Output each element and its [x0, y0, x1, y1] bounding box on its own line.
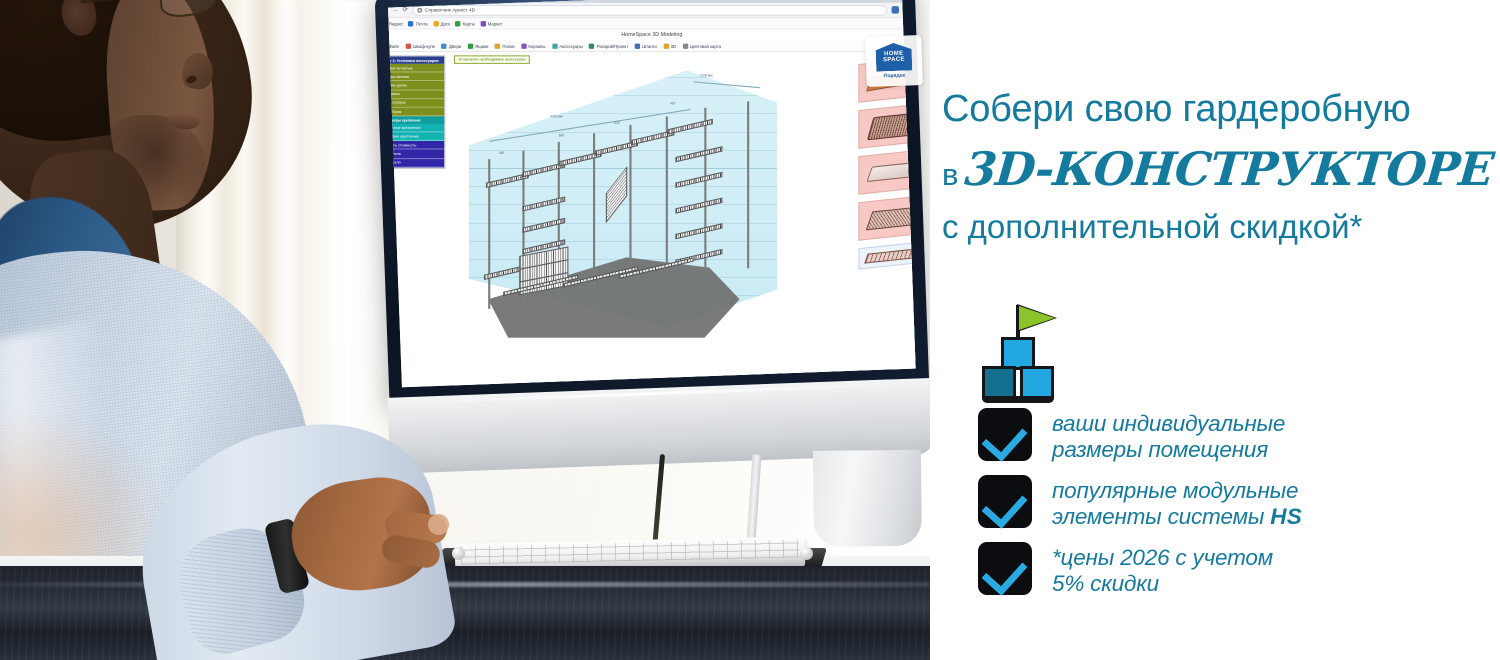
toolbar-icon: [468, 43, 473, 48]
benefit-item: *цены 2026 с учетом 5% скидки: [978, 542, 1478, 597]
bookmark-label: Диск: [441, 21, 450, 26]
sidebar-item-baskets[interactable]: Корзины: [388, 90, 444, 99]
sidebar-item-accessories[interactable]: Аксессуары: [388, 99, 444, 108]
sidebar-group-teal: Примеры крепления Обычное крепление Боко…: [388, 116, 444, 141]
toolbar-item[interactable]: Цветовая карта: [683, 43, 721, 48]
benefit-line-1: ваши индивидуальные: [1052, 411, 1285, 436]
app-title: HomeSpace 3D Modeling: [388, 30, 916, 41]
sidebar-item-mount-normal[interactable]: Обычное крепление: [388, 124, 444, 133]
bookmark-item[interactable]: Почта: [408, 21, 427, 26]
dimension-label: 4200 мм: [550, 114, 562, 118]
toolbar-icon: [589, 43, 594, 48]
benefit-text: популярные модульные элементы системы HS: [1052, 475, 1302, 530]
bookmark-label: Маркет: [488, 21, 502, 26]
sidebar-step-header: Шаг 4: Установка аксессуаров: [388, 56, 444, 63]
toolbar-item[interactable]: Ящики: [468, 43, 489, 48]
app-sidebar: Шаг 4: Установка аксессуаров Полки сетча…: [388, 55, 445, 168]
model-viewport[interactable]: Установите необходимые аксессуары: [447, 52, 915, 387]
check-icon: [978, 475, 1032, 528]
toolbar-label: Раскрой/Проект: [597, 43, 629, 48]
toolbar-label: Полки: [502, 43, 514, 48]
toolbar-item[interactable]: Полки: [495, 43, 515, 48]
sidebar-item-clear[interactable]: Очистить: [388, 150, 444, 159]
cube-right-icon: [1020, 366, 1054, 399]
benefit-line-1: популярные модульные: [1052, 478, 1298, 503]
monitor-stand: [813, 450, 922, 547]
dimension-label: 400: [670, 101, 675, 105]
toolbar-icon: [552, 43, 557, 48]
bookmark-item[interactable]: Яндекс: [388, 21, 403, 26]
post: [666, 116, 668, 272]
monitor-screen: HomeSpace 3D Модели × + — ▢ ✕ ← →: [388, 0, 916, 387]
toolbar-icon: [406, 43, 411, 48]
bookmark-icon: [408, 21, 413, 26]
bookmark-label: Почта: [416, 21, 428, 26]
sidebar-item-shelves-mesh[interactable]: Полки сетчатые: [388, 64, 444, 73]
toolbar-icon: [635, 43, 640, 48]
pants-rack-thumbnail[interactable]: [858, 241, 915, 269]
bookmark-icon: [433, 21, 438, 26]
benefit-item: популярные модульные элементы системы HS: [978, 475, 1478, 530]
brand-logo-badge: HOME SPACE Порядок: [865, 35, 923, 87]
sidebar-group-olive: Полки сетчатые Полки мелкие Полки-доски …: [388, 64, 444, 117]
sidebar-item-shelves-board[interactable]: Полки-доски: [388, 81, 444, 90]
photo-panel: HomeSpace 3D Модели × + — ▢ ✕ ← →: [0, 0, 930, 660]
tray-shallow-thumbnail[interactable]: [858, 149, 915, 194]
bookmark-label: Яндекс: [389, 21, 403, 26]
toolbar-label: Цветовая карта: [690, 43, 721, 48]
benefit-bold-suffix: HS: [1270, 504, 1302, 529]
viewport-hint: Установите необходимые аксессуары: [454, 55, 530, 64]
ext-blue-icon[interactable]: [892, 6, 899, 13]
benefit-item: ваши индивидуальные размеры помещения: [978, 408, 1478, 463]
sidebar-group-blue: Убрать стоимость Очистить В начало: [388, 141, 444, 167]
post: [747, 101, 749, 268]
browser-url-bar: ← → ⟳ Справочник Арнест 4D: [388, 3, 916, 18]
benefit-line-2: размеры помещения: [1052, 437, 1268, 462]
toolbar-label: Ящики: [475, 43, 488, 48]
dimension-label: 1200 мм: [700, 74, 712, 78]
bookmarks-bar: Яндекс Почта Диск Карты: [388, 18, 916, 30]
app-toolbar: Файл Шкаф-купе Двери Ящики Полки Корзины…: [388, 40, 916, 52]
toolbar-label: Корзины: [528, 43, 545, 48]
address-input[interactable]: Справочник Арнест 4D: [412, 5, 887, 16]
toolbar-label: Файл: [389, 43, 400, 48]
message-panel: Собери свою гардеробную в 3D-КОНСТРУКТОР…: [930, 0, 1500, 660]
blocks-base-icon: [982, 396, 1054, 403]
sidebar-item-shelves-small[interactable]: Полки мелкие: [388, 73, 444, 82]
bookmark-item[interactable]: Маркет: [480, 21, 502, 26]
bookmark-item[interactable]: Карты: [455, 21, 475, 26]
home-space-shield-icon: HOME SPACE: [875, 42, 912, 71]
promo-banner: HomeSpace 3D Модели × + — ▢ ✕ ← →: [0, 0, 1500, 660]
sidebar-item-mount-side[interactable]: Боковое крепление: [388, 132, 444, 141]
desk-edge-highlight: [0, 582, 930, 587]
headline-line-1: Собери свою гардеробную: [942, 88, 1490, 131]
toolbar-label: 3D: [671, 43, 676, 48]
bookmark-label: Карты: [463, 21, 475, 26]
toolbar-icon: [521, 43, 526, 48]
brand-tagline: Порядок: [884, 73, 905, 80]
toolbar-item[interactable]: Раскрой/Проект: [589, 43, 628, 48]
post: [629, 125, 631, 280]
pants-rack-shape: [864, 248, 916, 263]
check-icon: [978, 542, 1032, 595]
toolbar-icon: [683, 43, 688, 48]
toolbar-label: Шкаф-купе: [413, 43, 435, 48]
toolbar-icon: [495, 43, 500, 48]
flag-icon: [1019, 306, 1055, 330]
dimension-label: 450: [499, 151, 504, 155]
dimension-label: 600: [559, 133, 564, 137]
headline-line-3: с дополнительной скидкой*: [942, 208, 1490, 246]
mesh-shelf-shape: [866, 206, 916, 230]
toolbar-label: Штанги: [642, 43, 657, 48]
screen-content: HomeSpace 3D Модели × + — ▢ ✕ ← →: [388, 0, 916, 387]
keyboard-knob-right: [800, 547, 813, 560]
lock-icon: [418, 8, 422, 12]
benefit-text: ваши индивидуальные размеры помещения: [1052, 408, 1285, 463]
toolbar-item[interactable]: 3D: [663, 43, 676, 48]
toolbar-label: Аксессуары: [559, 43, 583, 48]
keyboard-keys: [461, 539, 799, 564]
headline-preposition: в: [942, 157, 958, 193]
brand-line-2: SPACE: [883, 57, 905, 64]
url-text: Справочник Арнест 4D: [425, 7, 475, 12]
toolbar-item[interactable]: Штанги: [635, 43, 657, 48]
benefit-text: *цены 2026 с учетом 5% скидки: [1052, 542, 1273, 597]
headline-line-2: в 3D-КОНСТРУКТОРЕ: [942, 142, 1490, 196]
toolbar-label: Двери: [449, 43, 461, 48]
benefit-line-2: элементы системы: [1052, 504, 1270, 529]
sidebar-item-restart[interactable]: В начало: [388, 159, 444, 168]
bookmark-item[interactable]: Диск: [433, 21, 450, 26]
headline-accent: 3D-КОНСТРУКТОРЕ: [963, 142, 1496, 196]
post: [704, 108, 706, 269]
sidebar-item-remove-cost[interactable]: Убрать стоимость: [388, 141, 444, 150]
forward-icon[interactable]: →: [392, 7, 398, 13]
toolbar-item[interactable]: Файл: [388, 43, 399, 48]
monitor: HomeSpace 3D Модели × + — ▢ ✕ ← →: [375, 0, 930, 464]
sidebar-section-mounting: Примеры крепления: [388, 116, 444, 123]
keyboard-knob-left: [452, 547, 465, 560]
bookmark-icon: [455, 21, 460, 26]
toolbar-icon: [441, 43, 446, 48]
toolbar-icon: [663, 43, 668, 48]
bookmark-icon: [480, 21, 485, 26]
benefits-list: ваши индивидуальные размеры помещения по…: [978, 408, 1478, 610]
benefit-line-1: *цены 2026 с учетом: [1052, 545, 1273, 570]
toolbar-item[interactable]: Двери: [441, 43, 461, 48]
room-3d: 1200 мм 4200 мм 600 600 450 400: [456, 65, 777, 333]
toolbar-item[interactable]: Корзины: [521, 43, 545, 48]
toolbar-item[interactable]: Шкаф-купе: [406, 43, 435, 48]
sidebar-item-pants[interactable]: Для брюк: [388, 108, 444, 117]
benefit-line-2: 5% скидки: [1052, 571, 1159, 596]
building-blocks-icon: [978, 302, 1088, 402]
toolbar-item[interactable]: Аксессуары: [552, 43, 583, 48]
reload-icon[interactable]: ⟳: [403, 6, 408, 13]
check-icon: [978, 408, 1032, 461]
cube-left-icon: [982, 366, 1016, 399]
shelf-mesh-thumbnail[interactable]: [858, 195, 915, 240]
